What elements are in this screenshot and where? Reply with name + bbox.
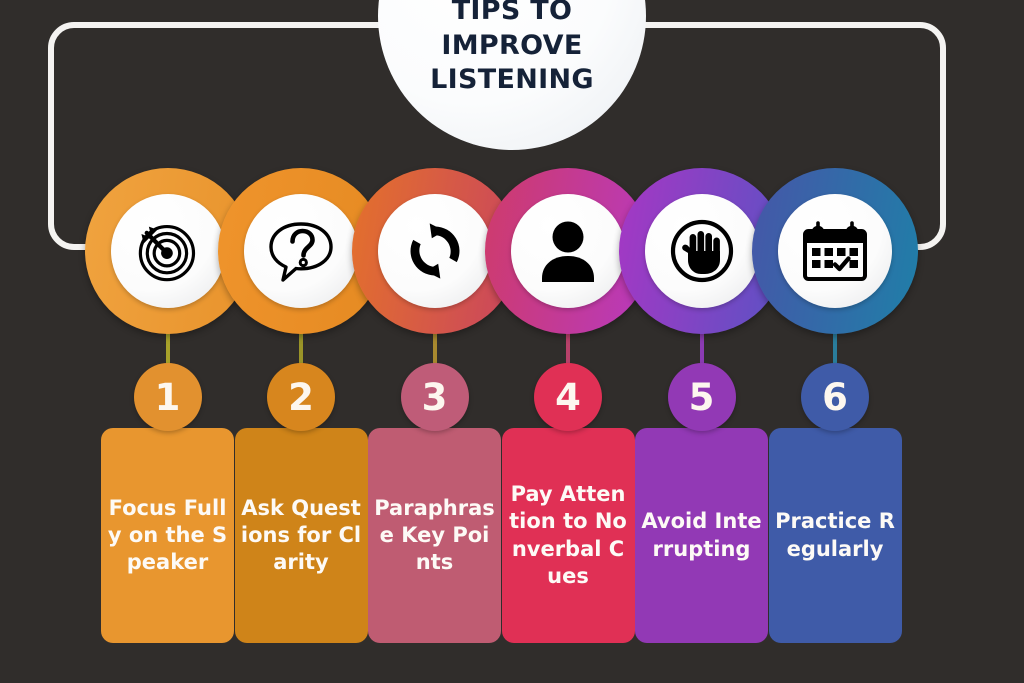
step-number-label: 1 bbox=[155, 379, 181, 416]
icon-circle-6 bbox=[752, 168, 918, 334]
step-number-4: 4 bbox=[534, 363, 602, 431]
step-label-box-4: Pay Attention to Nonverbal Cues bbox=[502, 428, 635, 643]
step-label-box-3: Paraphrase Key Points bbox=[368, 428, 501, 643]
step-label-text: Focus Fully on the Speaker bbox=[107, 495, 228, 577]
infographic-canvas: TIPS TO IMPROVE LISTENING bbox=[0, 0, 1024, 683]
step-number-5: 5 bbox=[668, 363, 736, 431]
step-label-box-2: Ask Questions for Clarity bbox=[235, 428, 368, 643]
person-user-icon bbox=[511, 194, 625, 308]
step-number-label: 3 bbox=[422, 379, 448, 416]
step-label-box-1: Focus Fully on the Speaker bbox=[101, 428, 234, 643]
step-number-label: 2 bbox=[288, 379, 314, 416]
step-number-3: 3 bbox=[401, 363, 469, 431]
refresh-cycle-icon bbox=[378, 194, 492, 308]
step-number-2: 2 bbox=[267, 363, 335, 431]
page-title: TIPS TO IMPROVE LISTENING bbox=[430, 0, 594, 98]
step-number-label: 4 bbox=[555, 379, 581, 416]
step-label-box-6: Practice Regularly bbox=[769, 428, 902, 643]
step-label-text: Pay Attention to Nonverbal Cues bbox=[508, 481, 629, 590]
step-label-text: Ask Questions for Clarity bbox=[241, 495, 362, 577]
step-label-text: Paraphrase Key Points bbox=[374, 495, 495, 577]
question-speech-bubble-icon bbox=[244, 194, 358, 308]
calendar-check-icon bbox=[778, 194, 892, 308]
stop-hand-icon bbox=[645, 194, 759, 308]
step-number-label: 5 bbox=[689, 379, 715, 416]
step-label-text: Practice Regularly bbox=[775, 508, 896, 563]
icon-circles-row bbox=[0, 168, 1024, 338]
step-number-1: 1 bbox=[134, 363, 202, 431]
step-label-box-5: Avoid Interrupting bbox=[635, 428, 768, 643]
step-number-6: 6 bbox=[801, 363, 869, 431]
target-dart-icon bbox=[111, 194, 225, 308]
step-label-text: Avoid Interrupting bbox=[641, 508, 762, 563]
step-number-label: 6 bbox=[822, 379, 848, 416]
